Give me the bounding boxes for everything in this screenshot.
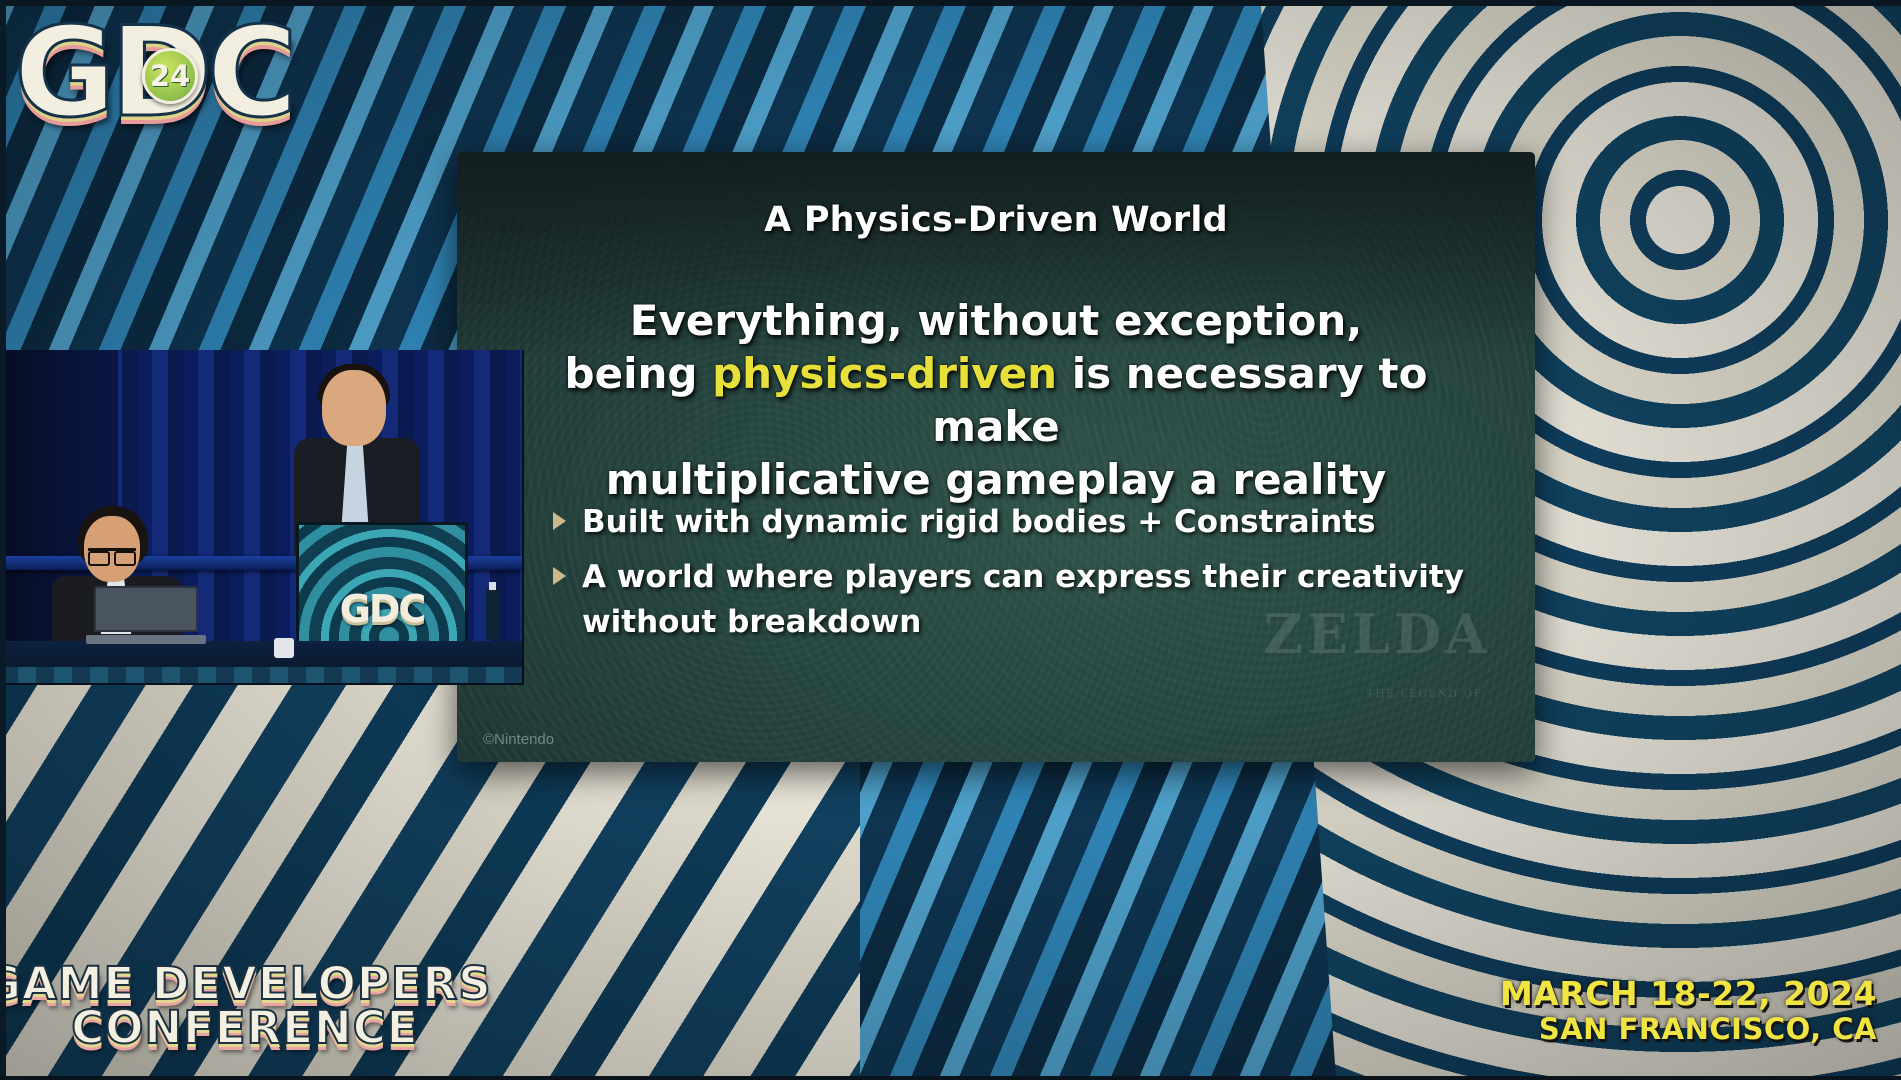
conference-line-2: CONFERENCE: [0, 1006, 492, 1050]
bullet-text: Built with dynamic rigid bodies + Constr…: [582, 500, 1376, 545]
list-item: Built with dynamic rigid bodies + Constr…: [553, 500, 1489, 545]
copyright-notice: ©Nintendo: [483, 731, 554, 748]
broadcast-stage: GDC 24 GDC: [0, 0, 1901, 1080]
left-edge-strip: [0, 0, 6, 1080]
statement-line-1: Everything, without exception,: [497, 294, 1495, 347]
glasses-icon: [88, 548, 136, 559]
laptop-base: [86, 635, 206, 644]
slide-statement: Everything, without exception, being phy…: [497, 294, 1495, 506]
statement-line-3: multiplicative gameplay a reality: [497, 453, 1495, 506]
gdc-year-badge: 24: [142, 48, 198, 104]
presentation-slide: A Physics-Driven World Everything, witho…: [457, 152, 1535, 762]
laptop-screen: [94, 586, 198, 632]
event-details-footer: MARCH 18-22, 2024 SAN FRANCISCO, CA: [1500, 976, 1877, 1046]
event-date: MARCH 18-22, 2024: [1500, 976, 1877, 1012]
desk-front-panel: [0, 667, 522, 683]
triangle-bullet-icon: [553, 567, 566, 585]
triangle-bullet-icon: [553, 512, 566, 530]
laptop: [86, 586, 206, 644]
water-bottle-cap: [489, 582, 496, 590]
slide-title: A Physics-Driven World: [457, 200, 1535, 240]
gdc-logo: GDC 24: [14, 12, 314, 138]
statement-highlight: physics-driven: [712, 349, 1057, 398]
zelda-watermark-subtitle: THE LEGEND OF: [1367, 689, 1483, 700]
podium-gdc-logo: GDC: [299, 587, 465, 631]
conference-name-footer: GAME DEVELOPERS CONFERENCE: [0, 962, 492, 1050]
event-location: SAN FRANCISCO, CA: [1500, 1012, 1877, 1046]
zelda-watermark: ZELDA: [1261, 578, 1493, 690]
conference-line-1: GAME DEVELOPERS: [0, 962, 492, 1006]
bottom-edge-strip: [0, 1076, 1901, 1080]
speaker-video-inset: GDC: [0, 350, 524, 685]
statement-line-2-pre: being: [565, 349, 713, 398]
presenter-head: [322, 370, 386, 446]
water-bottle: [486, 588, 499, 640]
cup: [274, 638, 294, 658]
statement-line-2: being physics-driven is necessary to mak…: [497, 347, 1495, 453]
